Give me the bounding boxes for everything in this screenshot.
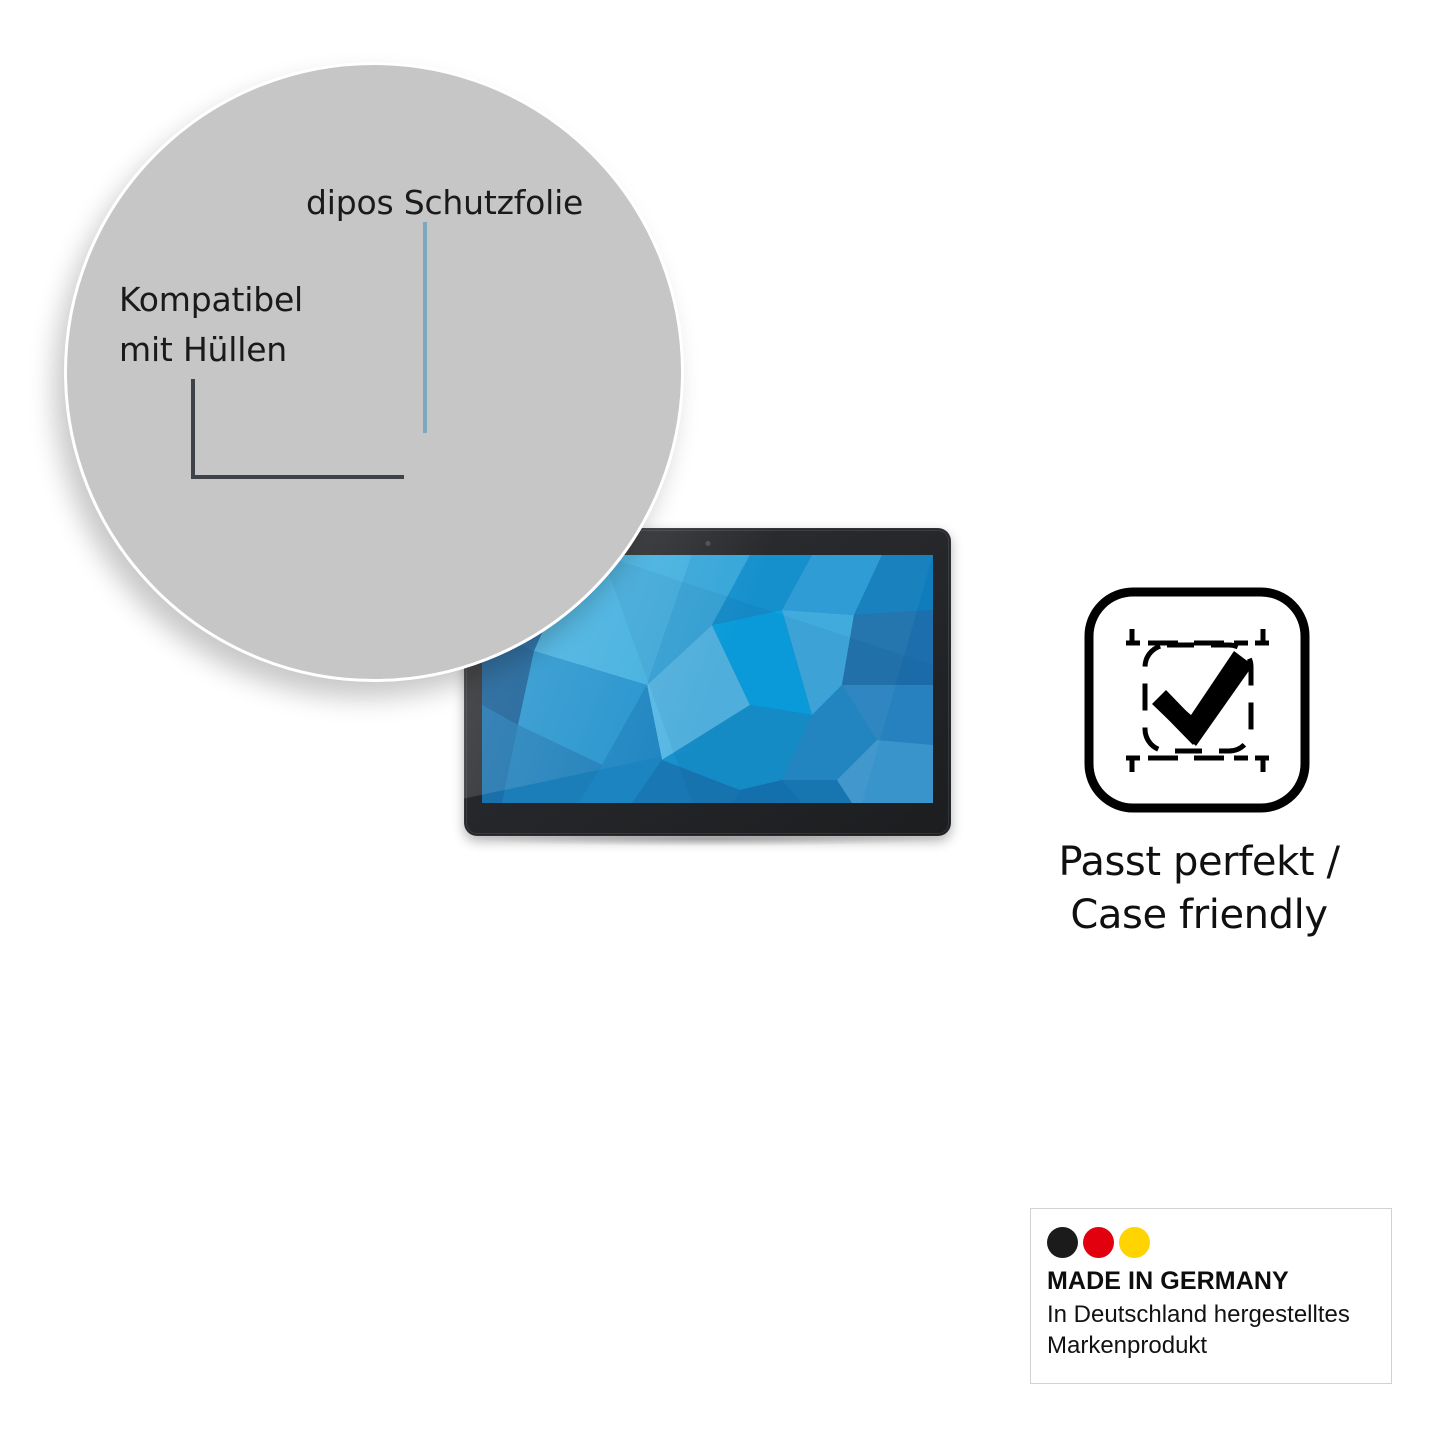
made-in-germany-title: MADE IN GERMANY: [1047, 1267, 1289, 1296]
german-flag-dots: [1047, 1227, 1150, 1258]
flag-dot-black-icon: [1047, 1227, 1078, 1258]
case-friendly-icon: [1082, 585, 1312, 815]
made-in-germany-subtitle: In Deutschland hergestelltes Markenprodu…: [1047, 1299, 1350, 1361]
leader-line-bracket-icon: [191, 379, 404, 479]
flag-dot-red-icon: [1083, 1227, 1114, 1258]
flag-dot-gold-icon: [1119, 1227, 1150, 1258]
callout-label-product: dipos Schutzfolie: [306, 178, 583, 228]
case-friendly-caption: Passt perfekt / Case friendly: [1014, 836, 1384, 942]
leader-line-blue-icon: [423, 222, 427, 433]
made-in-germany-badge: MADE IN GERMANY In Deutschland hergestel…: [1030, 1208, 1392, 1384]
tablet-camera-icon: [705, 541, 710, 546]
callout-label-case-compatible: Kompatibel mit Hüllen: [119, 275, 303, 375]
